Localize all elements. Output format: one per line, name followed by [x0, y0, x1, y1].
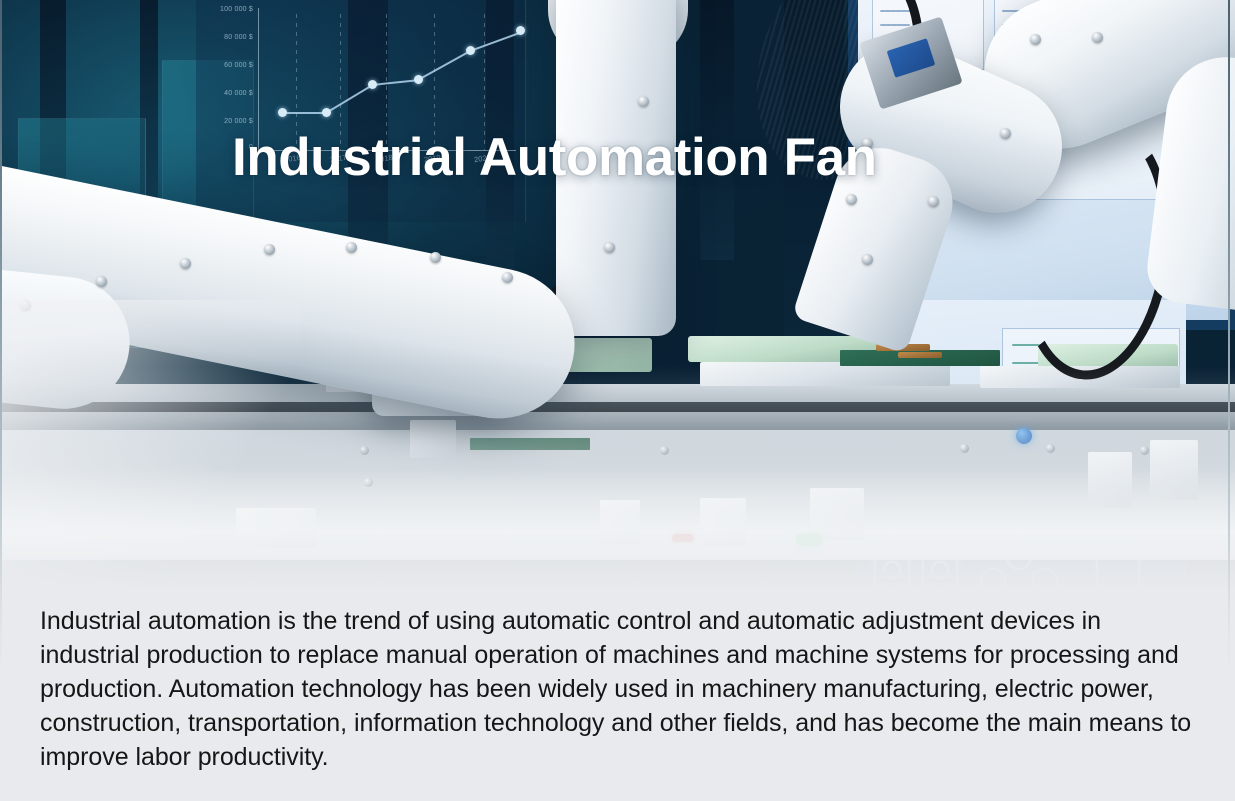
hud-data-point — [466, 46, 475, 55]
hero-photo: 100 000 $ 80 000 $ 60 000 $ 40 000 $ 20 … — [0, 0, 1235, 590]
rivet — [604, 242, 615, 253]
bolt — [960, 444, 969, 453]
hmi-dpad-left[interactable] — [980, 568, 1006, 590]
rivet — [346, 242, 357, 253]
hud-data-point — [322, 108, 331, 117]
hud-data-point — [278, 108, 287, 117]
rivet — [862, 254, 873, 265]
hmi-icon-circle[interactable] — [883, 561, 901, 579]
hud-line-segment — [470, 32, 521, 52]
hud-y-tick: 20 000 $ — [205, 118, 253, 125]
bolt — [360, 446, 369, 455]
right-edge-rule — [1228, 0, 1230, 672]
circuit-board — [470, 438, 590, 450]
machine-block — [700, 498, 746, 546]
status-led-blue — [1016, 428, 1032, 444]
machine-block — [810, 488, 864, 540]
rivet — [1000, 128, 1011, 139]
machine-block — [410, 420, 456, 458]
rivet — [20, 300, 31, 311]
hud-data-point — [414, 75, 423, 84]
bolt — [364, 478, 373, 487]
hud-line-segment — [282, 112, 326, 114]
rivet — [180, 258, 191, 269]
rivet — [846, 194, 857, 205]
hero-banner: 100 000 $ 80 000 $ 60 000 $ 40 000 $ 20 … — [0, 0, 1235, 590]
machine-block — [1150, 440, 1198, 500]
rivet — [638, 96, 649, 107]
rivet — [430, 252, 441, 263]
bolt — [1140, 446, 1149, 455]
hmi-icon-circle[interactable] — [931, 561, 949, 579]
bolt — [1046, 444, 1055, 453]
hud-y-tick: 60 000 $ — [205, 62, 253, 69]
rivet — [96, 276, 107, 287]
hud-line-segment — [418, 50, 471, 81]
hud-data-point — [516, 26, 525, 35]
hud-y-tick: 40 000 $ — [205, 90, 253, 97]
hud-line-segment — [325, 84, 372, 114]
machine-block — [236, 508, 316, 548]
article-paragraph: Industrial automation is the trend of us… — [40, 604, 1192, 774]
machine-rail — [0, 402, 1235, 412]
hud-y-tick: 80 000 $ — [205, 34, 253, 41]
page-title: Industrial Automation Fan — [232, 128, 877, 187]
rivet — [502, 272, 513, 283]
machine-block — [1088, 452, 1132, 508]
hmi-dpad-right[interactable] — [1032, 568, 1058, 590]
rivet — [1092, 32, 1103, 43]
status-led-red — [672, 534, 694, 542]
rivet — [1030, 34, 1041, 45]
hud-data-point — [368, 80, 377, 89]
rivet — [928, 196, 939, 207]
rivet — [264, 244, 275, 255]
hud-y-tick: 100 000 $ — [205, 6, 253, 13]
bolt — [660, 446, 669, 455]
copper-busbar — [898, 352, 942, 358]
left-edge-rule — [0, 0, 2, 672]
hud-line-segment — [372, 79, 420, 86]
status-led-green — [796, 534, 822, 546]
hmi-dpad-down[interactable] — [1006, 588, 1032, 590]
machine-block — [600, 500, 640, 544]
page-root: 100 000 $ 80 000 $ 60 000 $ 40 000 $ 20 … — [0, 0, 1235, 801]
